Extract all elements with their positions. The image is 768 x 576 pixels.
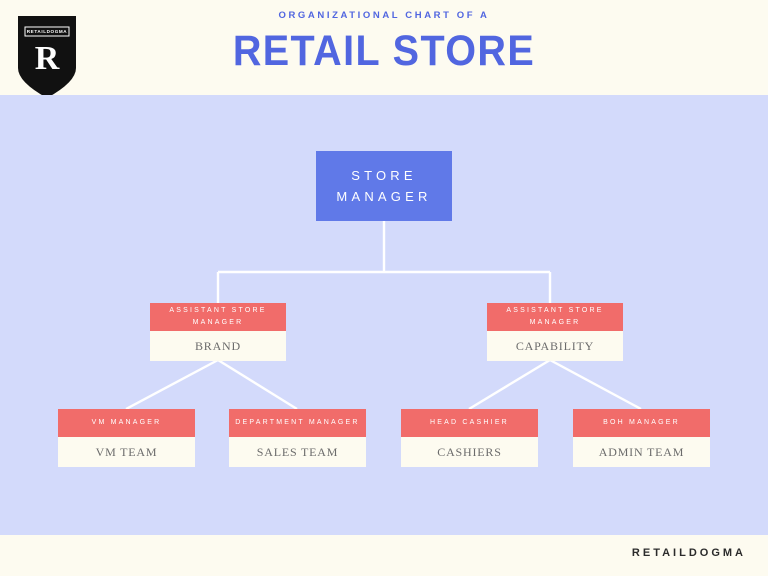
node-head-cashier-role[interactable]: HEAD CASHIER <box>401 409 538 437</box>
org-chart-poster: ORGANIZATIONAL CHART OF A RETAIL STORE R… <box>0 0 768 576</box>
node-team-label: BRAND <box>195 339 241 354</box>
node-department-manager-team[interactable]: SALES TEAM <box>229 437 366 467</box>
connector-brand-to-vm <box>126 360 218 409</box>
node-store-manager-label: STORE MANAGER <box>316 165 452 208</box>
node-role-label: HEAD CASHIER <box>430 417 509 429</box>
node-team-label: CAPABILITY <box>516 339 594 354</box>
node-role-label: ASSISTANT STORE MANAGER <box>154 305 282 329</box>
connector-lines <box>0 0 768 576</box>
node-department-manager-role[interactable]: DEPARTMENT MANAGER <box>229 409 366 437</box>
node-role-label: BOH MANAGER <box>603 417 680 429</box>
connector-capability-to-head-cashier <box>469 360 550 409</box>
logo-letter-r: R <box>18 42 76 76</box>
node-boh-manager-role[interactable]: BOH MANAGER <box>573 409 710 437</box>
node-role-label: DEPARTMENT MANAGER <box>235 417 359 429</box>
node-assistant-store-manager-brand-role[interactable]: ASSISTANT STORE MANAGER <box>150 303 286 331</box>
connector-brand-to-department <box>218 360 297 409</box>
node-assistant-store-manager-capability-role[interactable]: ASSISTANT STORE MANAGER <box>487 303 623 331</box>
node-vm-manager-team[interactable]: VM TEAM <box>58 437 195 467</box>
node-team-label: CASHIERS <box>437 445 501 460</box>
node-team-label: ADMIN TEAM <box>599 445 684 460</box>
node-assistant-store-manager-capability-team[interactable]: CAPABILITY <box>487 331 623 361</box>
node-role-label: VM MANAGER <box>92 417 162 429</box>
connector-capability-to-boh <box>550 360 641 409</box>
node-assistant-store-manager-brand-team[interactable]: BRAND <box>150 331 286 361</box>
node-head-cashier-team[interactable]: CASHIERS <box>401 437 538 467</box>
node-team-label: VM TEAM <box>96 445 158 460</box>
node-role-label: ASSISTANT STORE MANAGER <box>491 305 619 329</box>
node-vm-manager-role[interactable]: VM MANAGER <box>58 409 195 437</box>
node-store-manager[interactable]: STORE MANAGER <box>316 151 452 221</box>
node-team-label: SALES TEAM <box>257 445 338 460</box>
node-boh-manager-team[interactable]: ADMIN TEAM <box>573 437 710 467</box>
